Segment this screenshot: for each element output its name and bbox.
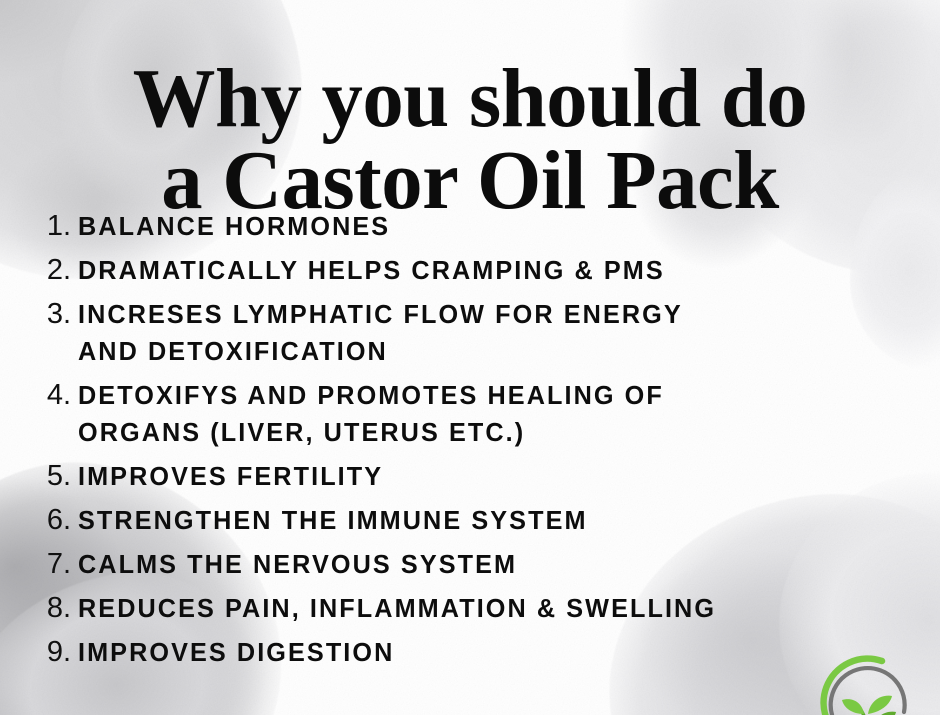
list-item-number: 5. [0, 458, 78, 495]
list-item-number: 6. [0, 502, 78, 539]
logo-leaf-left-upper [842, 699, 864, 714]
list-item: 5. IMPROVES FERTILITY [0, 458, 940, 495]
list-item-text: REDUCES PAIN, INFLAMMATION & SWELLING [78, 590, 914, 627]
list-item-number: 2. [0, 252, 78, 289]
list-item-text: BALANCE HORMONES [78, 208, 914, 245]
title-line-1: Why you should do [7, 58, 933, 140]
list-item: 1. BALANCE HORMONES [0, 208, 940, 245]
list-item-text: IMPROVES FERTILITY [78, 458, 914, 495]
list-item: 2. DRAMATICALLY HELPS CRAMPING & PMS [0, 252, 940, 289]
list-item-text-line-2: AND DETOXIFICATION [78, 333, 914, 370]
list-item-number: 4. [0, 377, 78, 414]
list-item-text-line-2: ORGANS (LIVER, UTERUS ETC.) [78, 414, 914, 451]
list-item: 4. DETOXIFYS AND PROMOTES HEALING OFORGA… [0, 377, 940, 451]
benefits-list: 1. BALANCE HORMONES 2. DRAMATICALLY HELP… [0, 208, 940, 678]
list-item-text: INCRESES LYMPHATIC FLOW FOR ENERGYAND DE… [78, 296, 914, 370]
list-item: 9. IMPROVES DIGESTION [0, 634, 940, 671]
list-item-text: CALMS THE NERVOUS SYSTEM [78, 546, 914, 583]
list-item-number: 7. [0, 546, 78, 583]
list-item: 7. CALMS THE NERVOUS SYSTEM [0, 546, 940, 583]
logo-leaf-right-upper [868, 696, 892, 714]
list-item-number: 9. [0, 634, 78, 671]
list-item: 3. INCRESES LYMPHATIC FLOW FOR ENERGYAND… [0, 296, 940, 370]
logo-gray-arc [831, 668, 905, 715]
list-item-text: DRAMATICALLY HELPS CRAMPING & PMS [78, 252, 914, 289]
list-item-text: IMPROVES DIGESTION [78, 634, 914, 671]
list-item: 6. STRENGTHEN THE IMMUNE SYSTEM [0, 502, 940, 539]
poster-canvas: Why you should do a Castor Oil Pack 1. B… [0, 0, 940, 715]
list-item-text: DETOXIFYS AND PROMOTES HEALING OFORGANS … [78, 377, 914, 451]
list-item: 8. REDUCES PAIN, INFLAMMATION & SWELLING [0, 590, 940, 627]
list-item-number: 1. [0, 208, 78, 245]
list-item-text-line-1: INCRESES LYMPHATIC FLOW FOR ENERGY [78, 296, 914, 333]
list-item-number: 3. [0, 296, 78, 333]
page-title: Why you should do a Castor Oil Pack [7, 58, 933, 223]
logo-leaf-right-mid [872, 712, 896, 715]
brand-logo [812, 648, 924, 715]
list-item-text: STRENGTHEN THE IMMUNE SYSTEM [78, 502, 914, 539]
list-item-text-line-1: DETOXIFYS AND PROMOTES HEALING OF [78, 377, 914, 414]
leaf-circle-icon [812, 648, 924, 715]
list-item-number: 8. [0, 590, 78, 627]
